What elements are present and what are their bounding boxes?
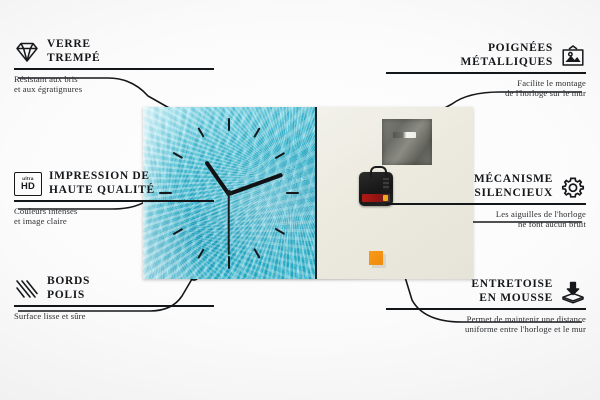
feature-title: MÉCANISME SILENCIEUX xyxy=(474,173,553,200)
feature-divider xyxy=(14,68,214,70)
clock-hands-hub xyxy=(226,190,232,196)
feature-title: VERRE TREMPÉ xyxy=(47,38,100,65)
hour-marker xyxy=(253,248,260,258)
feature-header: BORDS POLIS xyxy=(14,275,214,302)
feature-divider xyxy=(386,308,586,310)
hour-marker xyxy=(286,192,299,194)
hour-marker xyxy=(173,152,183,159)
hanger-slot xyxy=(393,132,416,138)
feature-mecanisme-silencieux: MÉCANISME SILENCIEUX Les aiguilles de l'… xyxy=(386,173,586,230)
feature-header: VERRE TREMPÉ xyxy=(14,38,214,65)
feature-description-line2: de l'horloge sur le mur xyxy=(386,88,586,99)
feature-description-line2: et image claire xyxy=(14,216,214,227)
feature-description-line2: ne font aucun bruit xyxy=(386,219,586,230)
foam-spacer-icon xyxy=(560,280,586,304)
hour-marker xyxy=(253,127,260,137)
feature-description-line2: et aux égratignures xyxy=(14,84,214,95)
hour-marker xyxy=(275,152,285,159)
picture-hanger-icon xyxy=(560,44,586,68)
feature-title: POIGNÉES MÉTALLIQUES xyxy=(461,42,553,69)
feature-entretoise-en-mousse: ENTRETOISE EN MOUSSE Permet de maintenir… xyxy=(386,278,586,335)
feature-description-line1: Surface lisse et sûre xyxy=(14,311,214,322)
hour-marker xyxy=(197,248,204,258)
feature-title: IMPRESSION DE HAUTE QUALITÉ xyxy=(49,170,155,197)
hour-marker xyxy=(228,256,230,269)
movement-hanging-loop xyxy=(370,166,387,177)
feature-header: MÉCANISME SILENCIEUX xyxy=(386,173,586,200)
infographic-canvas: VERRE TREMPÉ Résistant aux bris et aux é… xyxy=(0,0,600,400)
hanger-plate xyxy=(382,119,432,165)
feature-verre-trempe: VERRE TREMPÉ Résistant aux bris et aux é… xyxy=(14,38,214,95)
ultra-hd-badge-icon: ultra HD xyxy=(14,172,42,196)
foam-spacer xyxy=(369,251,383,265)
polished-edges-icon xyxy=(14,277,40,301)
feature-bords-polis: BORDS POLIS Surface lisse et sûre xyxy=(14,275,214,321)
feature-description-line1: Facilite le montage xyxy=(386,78,586,89)
feature-title: BORDS POLIS xyxy=(47,275,90,302)
diamond-icon xyxy=(14,40,40,64)
feature-impression-haute-qualite: ultra HD IMPRESSION DE HAUTE QUALITÉ Cou… xyxy=(14,170,214,227)
second-hand xyxy=(228,193,230,255)
feature-description-line1: Couleurs intenses xyxy=(14,206,214,217)
feature-description-line1: Les aiguilles de l'horloge xyxy=(386,209,586,220)
feature-divider xyxy=(386,72,586,74)
feature-divider xyxy=(386,203,586,205)
feature-header: ultra HD IMPRESSION DE HAUTE QUALITÉ xyxy=(14,170,214,197)
minute-hand xyxy=(228,172,283,195)
feature-description-line2: uniforme entre l'horloge et le mur xyxy=(386,324,586,335)
hour-marker xyxy=(275,228,285,235)
hour-marker xyxy=(173,228,183,235)
feature-header: ENTRETOISE EN MOUSSE xyxy=(386,278,586,305)
feature-description-line1: Résistant aux bris xyxy=(14,74,214,85)
feature-divider xyxy=(14,305,214,307)
feature-poignees-metalliques: POIGNÉES MÉTALLIQUES Facilite le montage… xyxy=(386,42,586,99)
hour-marker xyxy=(197,127,204,137)
feature-divider xyxy=(14,200,214,202)
feature-description-line1: Permet de maintenir une distance xyxy=(386,314,586,325)
feature-header: POIGNÉES MÉTALLIQUES xyxy=(386,42,586,69)
hour-marker xyxy=(228,118,230,131)
feature-title: ENTRETOISE EN MOUSSE xyxy=(471,278,553,305)
gear-icon xyxy=(560,175,586,199)
